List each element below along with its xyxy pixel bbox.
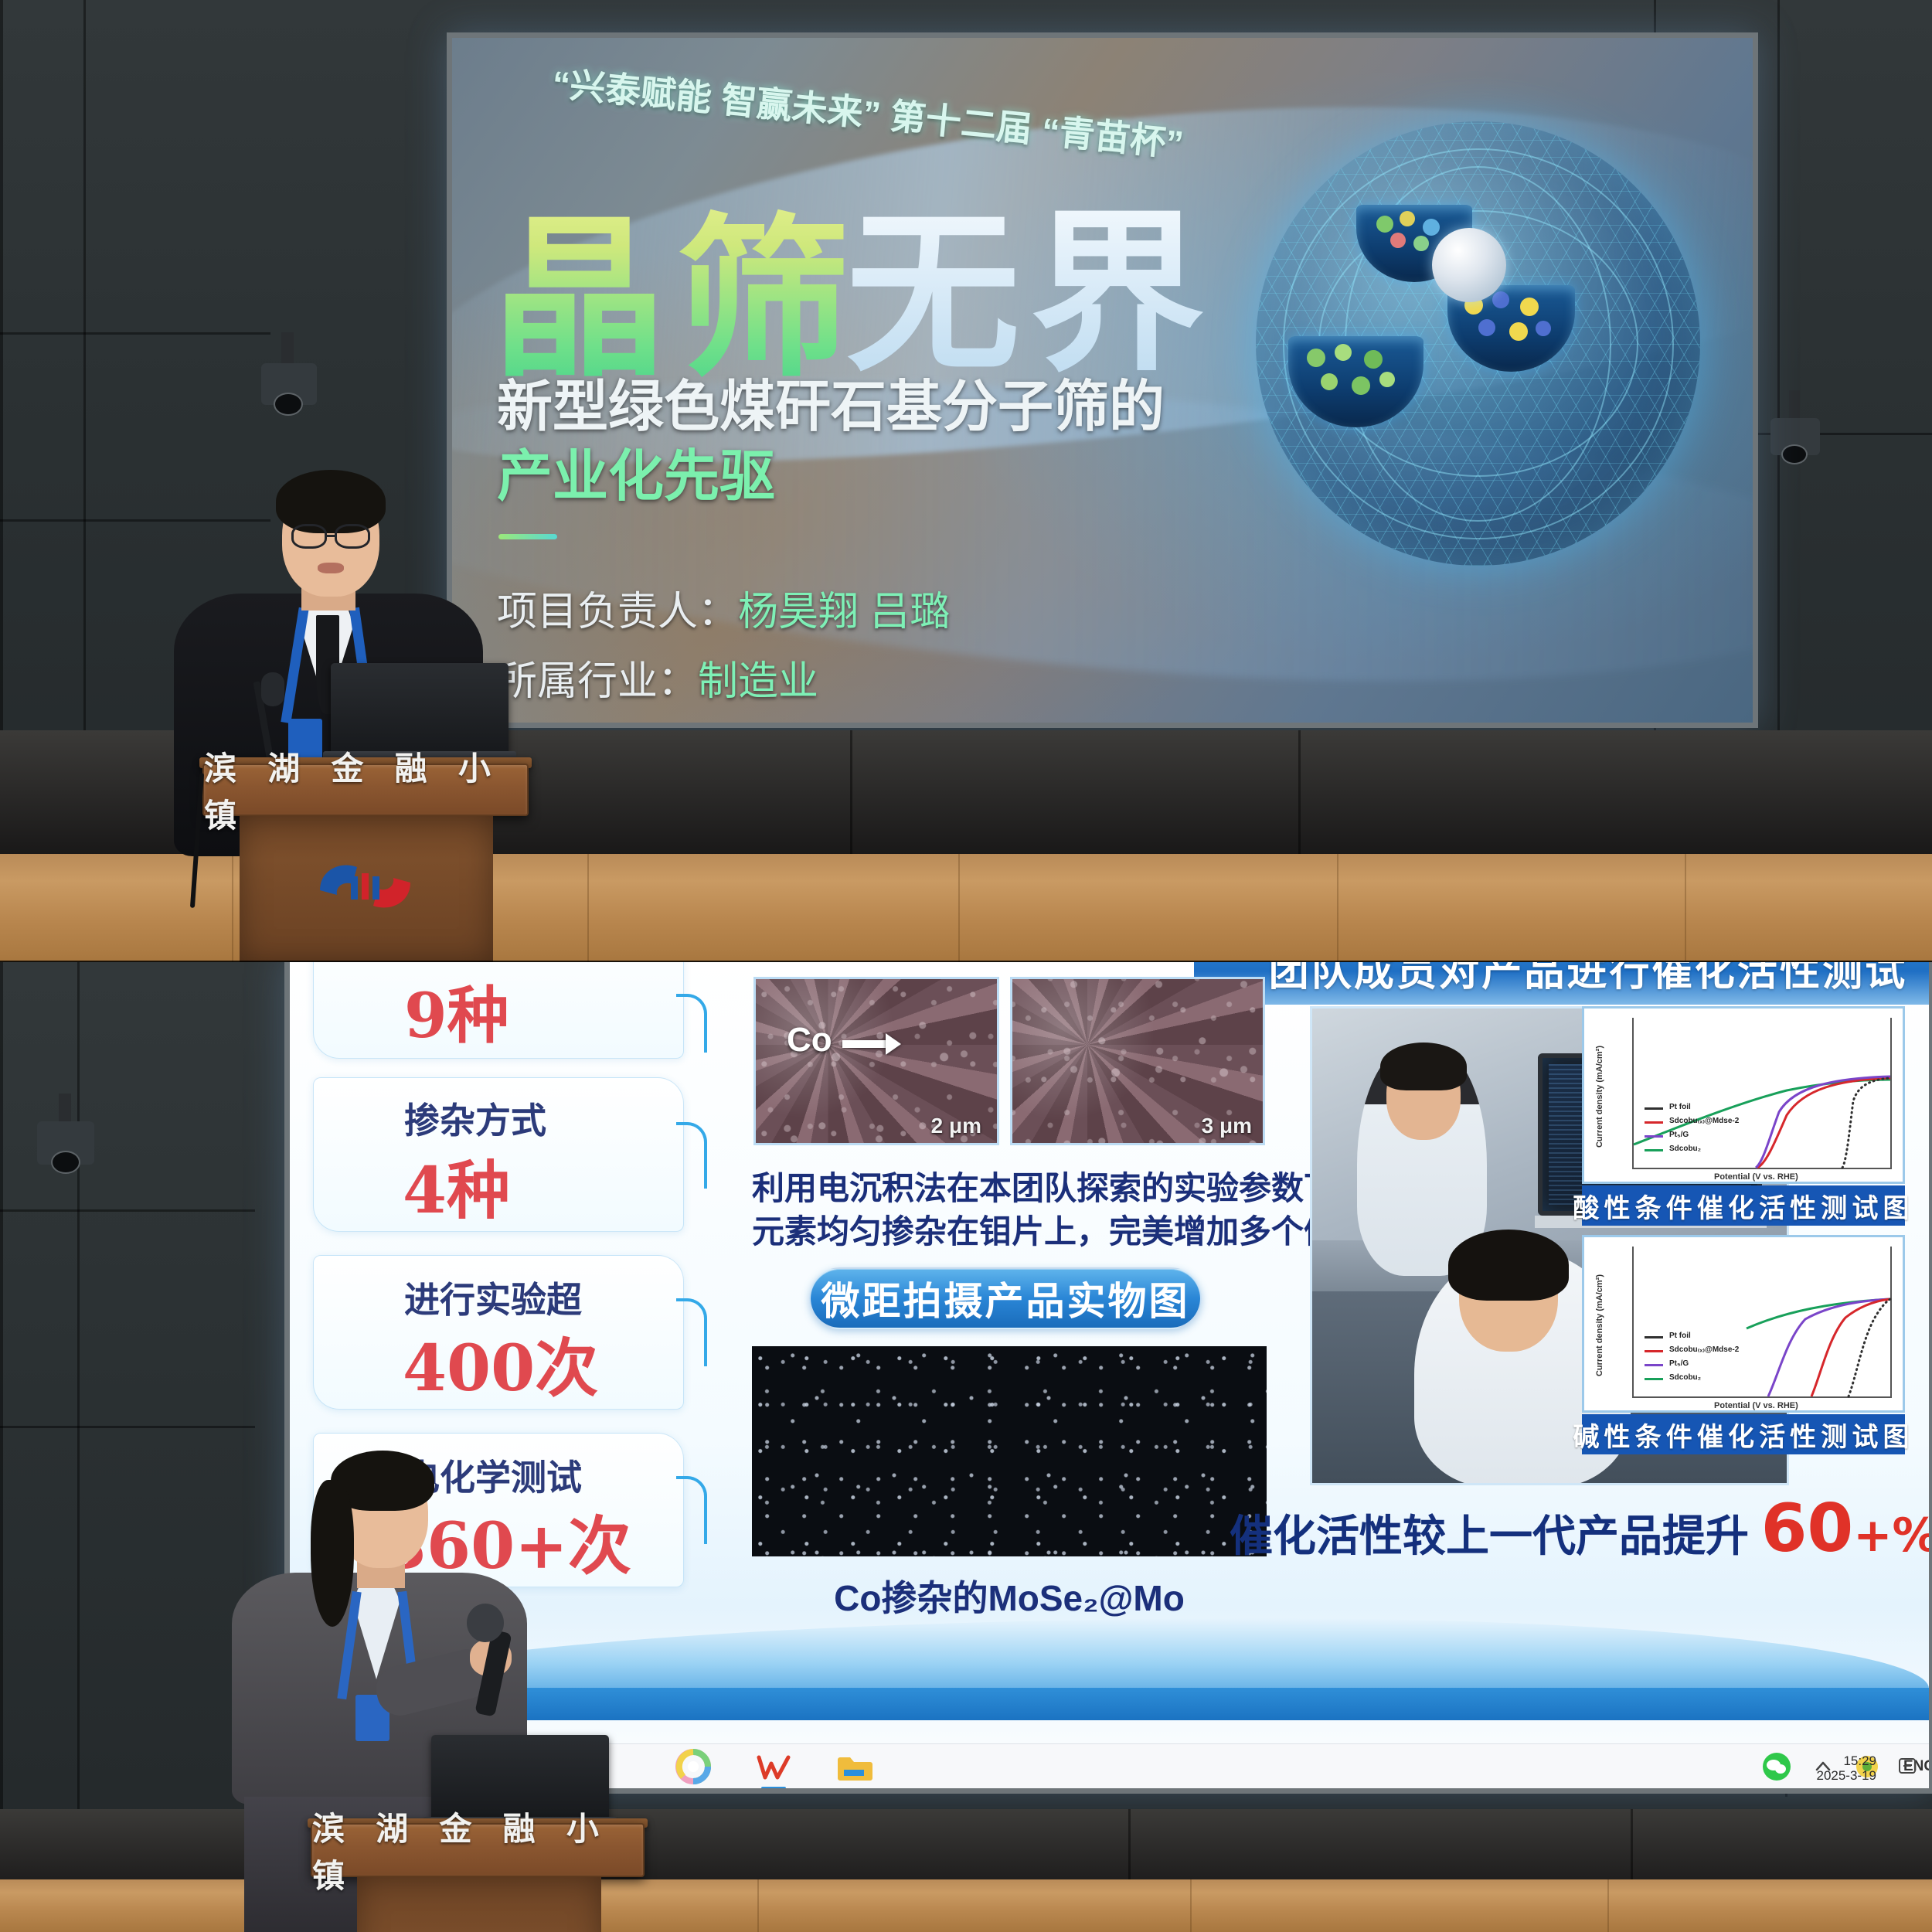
stat-brace-1 [676, 994, 707, 1053]
specimen-caption: Co掺杂的MoSe₂@Mo [752, 1570, 1267, 1621]
result-text: 催化活性较上一代产品提升 [1230, 1512, 1749, 1560]
meta-value-leader: 杨昊翔 吕璐 [738, 590, 950, 634]
meta-value-industry: 制造业 [698, 659, 818, 704]
slide-top-banner: 团队成员对产品进行催化活性测试 [1194, 962, 1932, 1005]
stat-brace-4 [676, 1476, 707, 1544]
stat-value-2: 4种 [403, 1139, 510, 1231]
legend-item-0-alkaline: Pt foil [1669, 1332, 1691, 1340]
legend-item-1-alkaline: Sdcobu₍ₓ₎@Mdse-2 [1669, 1345, 1739, 1354]
led-screen-top: “兴泰赋能 智赢未来” 第十二届 “青苗杯” 晶筛 无界 新型绿色煤矸石基分子筛… [447, 32, 1758, 728]
venue-sign-top: 滨 湖 金 融 小 镇 [202, 764, 529, 816]
sem-scale-left: 2 μm [931, 1114, 981, 1138]
chart-xlabel-acidic: Potential (V vs. RHE) [1714, 1172, 1798, 1182]
slide-subtitle-line-2: 产业化先驱 [497, 430, 775, 512]
podium-logo-top [317, 856, 413, 917]
result-number: 60 [1761, 1490, 1854, 1567]
catalytic-chart-acidic: Current density (mA/cm²) Potential (V vs… [1582, 1006, 1905, 1184]
presentation-slide-title: “兴泰赋能 智赢未来” 第十二届 “青苗杯” 晶筛 无界 新型绿色煤矸石基分子筛… [452, 38, 1753, 723]
co-arrow-icon [842, 1033, 904, 1055]
legend-item-1-acidic: Sdcobu₍ₓ₎@Mdse-2 [1669, 1117, 1739, 1125]
photo-collage: “兴泰赋能 智赢未来” 第十二届 “青苗杯” 晶筛 无界 新型绿色煤矸石基分子筛… [0, 0, 1932, 1932]
venue-sign-bottom: 滨 湖 金 融 小 镇 [311, 1823, 645, 1877]
stat-brace-2 [676, 1122, 707, 1189]
co-element-label: Co [787, 1021, 832, 1060]
podium-top: 滨 湖 金 融 小 镇 [199, 757, 532, 962]
podium-bottom: 滨 湖 金 融 小 镇 [308, 1818, 648, 1932]
slide-header-line: “兴泰赋能 智赢未来” 第十二届 “青苗杯” [550, 56, 1186, 167]
meta-label-leader: 项目负责人： [497, 590, 738, 634]
chart-curves-alkaline [1584, 1237, 1905, 1413]
sem-scale-right: 3 μm [1202, 1114, 1252, 1138]
wechat-icon[interactable] [1761, 1751, 1792, 1782]
legend-item-3-acidic: Sdcobu₂ [1669, 1145, 1701, 1153]
catalytic-chart-alkaline: Current density (mA/cm²) Potential (V vs… [1582, 1235, 1905, 1413]
sem-image-right: 3 μm [1010, 977, 1265, 1145]
stat-brace-3 [676, 1298, 707, 1366]
sem-image-left: Co 2 μm [753, 977, 999, 1145]
meta-row-industry: 所属行业：制造业 [497, 648, 818, 706]
clock-time: 15:29 [1816, 1753, 1876, 1769]
handheld-microphone [464, 1604, 510, 1719]
speaker-ponytail [311, 1480, 354, 1627]
legend-item-0-acidic: Pt foil [1669, 1103, 1691, 1111]
result-suffix: +% [1853, 1509, 1932, 1563]
clock-date: 2025-3-19 [1816, 1768, 1876, 1784]
meta-label-industry: 所属行业： [497, 659, 698, 704]
stat-value-3: 400次 [403, 1317, 598, 1409]
ceiling-camera-bottom [31, 1094, 100, 1186]
chart-caption-alkaline: 碱性条件催化活性测试图 [1582, 1414, 1905, 1454]
speaker-glasses [291, 524, 327, 549]
chart-ylabel-acidic: Current density (mA/cm²) [1595, 1046, 1604, 1148]
stat-label-3: 进行实验超 [404, 1272, 582, 1323]
chart-xlabel-alkaline: Potential (V vs. RHE) [1714, 1401, 1798, 1410]
browser-icon[interactable] [673, 1747, 713, 1787]
speaker-hair-top [276, 470, 386, 533]
chart-caption-acidic: 酸性条件催化活性测试图 [1582, 1185, 1905, 1226]
legend-item-2-alkaline: Pt₅/G [1669, 1359, 1689, 1368]
wps-icon[interactable] [753, 1747, 794, 1787]
chart-curves-acidic [1584, 1009, 1905, 1184]
stat-label-2: 掺杂方式 [404, 1093, 546, 1144]
ceiling-camera-left [255, 332, 325, 425]
macro-photo-pill-label: 微距拍摄产品实物图 [809, 1267, 1202, 1329]
ceiling-camera-right [1766, 390, 1828, 475]
folder-icon[interactable] [834, 1747, 874, 1787]
title-accent-bar [498, 534, 557, 539]
notifications-icon[interactable] [1896, 1755, 1918, 1777]
top-photo-panel: “兴泰赋能 智赢未来” 第十二届 “青苗杯” 晶筛 无界 新型绿色煤矸石基分子筛… [0, 0, 1932, 962]
meta-row-leader: 项目负责人：杨昊翔 吕璐 [497, 579, 950, 637]
bottom-photo-panel: 团队成员对产品进行催化活性测试 9种 掺杂方式 4种 进行实验超 400次 电化… [0, 962, 1932, 1932]
legend-item-2-acidic: Pt₅/G [1669, 1131, 1689, 1139]
chart-ylabel-alkaline: Current density (mA/cm²) [1595, 1274, 1604, 1376]
molecular-sphere-graphic [1256, 121, 1700, 566]
stat-value-1: 9种 [404, 966, 509, 1056]
specimen-macro-photo [752, 1346, 1267, 1556]
legend-item-3-alkaline: Sdcobu₂ [1669, 1373, 1701, 1382]
taskbar-clock[interactable]: 15:29 2025-3-19 [1816, 1753, 1876, 1784]
result-highlight-line: 催化活性较上一代产品提升 60+% [1230, 1490, 1932, 1567]
